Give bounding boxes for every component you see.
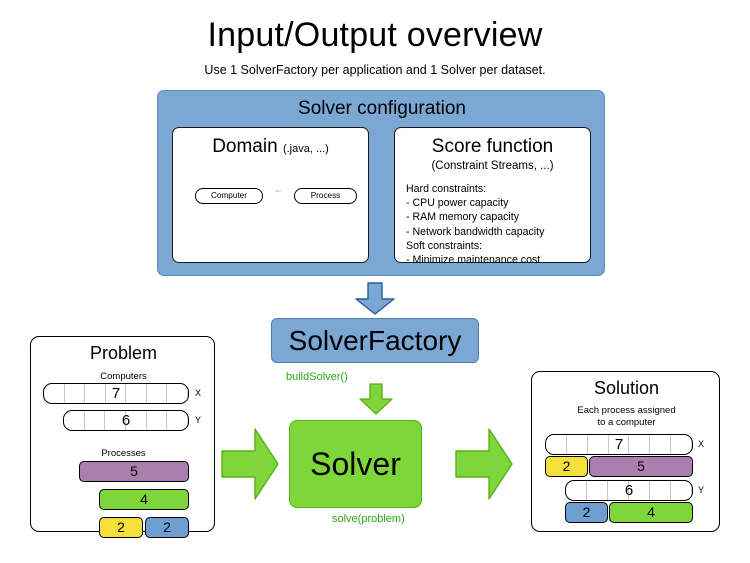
problem-title: Problem bbox=[31, 343, 216, 364]
domain-class-process[interactable]: Process bbox=[294, 188, 357, 204]
solution-assigned-process[interactable]: 2 bbox=[565, 502, 608, 523]
solution-computer-x-capacity: 7 bbox=[546, 435, 692, 455]
problem-computer-y-bar[interactable]: 6 bbox=[63, 410, 189, 431]
solution-computer-y-capacity: 6 bbox=[566, 481, 692, 501]
domain-card: Domain (.java, ...) Computer Process bbox=[172, 127, 369, 263]
solution-computer-x-axis-label: X bbox=[698, 434, 704, 455]
problem-computer-x-axis-label: X bbox=[195, 383, 201, 404]
problem-process-block[interactable]: 4 bbox=[99, 489, 189, 510]
solve-problem-label: solve(problem) bbox=[332, 513, 405, 525]
build-solver-label: buildSolver() bbox=[286, 371, 348, 383]
solution-process-size: 5 bbox=[637, 458, 645, 474]
domain-class-computer-label: Computer bbox=[211, 191, 247, 200]
solver-configuration-title: Solver configuration bbox=[158, 98, 606, 120]
score-function-subtitle: (Constraint Streams, ...) bbox=[395, 160, 590, 172]
solution-title: Solution bbox=[532, 378, 721, 399]
domain-title: Domain (.java, ...) bbox=[173, 137, 368, 156]
domain-class-computer[interactable]: Computer bbox=[195, 188, 263, 204]
process-to-computer-arrow-icon bbox=[262, 190, 295, 192]
solution-panel: Solution Each process assigned to a comp… bbox=[531, 371, 720, 532]
solution-process-size: 2 bbox=[563, 458, 571, 474]
solver-box[interactable]: Solver bbox=[289, 420, 422, 508]
problem-process-size: 2 bbox=[117, 519, 125, 535]
solution-process-size: 4 bbox=[647, 504, 655, 520]
constraints-list: Hard constraints: - CPU power capacity -… bbox=[406, 182, 586, 267]
problem-process-size: 4 bbox=[140, 491, 148, 507]
problem-computer-y-capacity: 6 bbox=[64, 411, 188, 431]
solution-assigned-process[interactable]: 5 bbox=[589, 456, 693, 477]
problem-computers-label: Computers bbox=[31, 371, 216, 382]
solution-process-size: 2 bbox=[583, 504, 591, 520]
domain-class-process-label: Process bbox=[311, 191, 341, 200]
page-subtitle: Use 1 SolverFactory per application and … bbox=[0, 63, 750, 77]
problem-processes-label: Processes bbox=[31, 448, 216, 459]
score-function-card: Score function (Constraint Streams, ...)… bbox=[394, 127, 591, 263]
solver-configuration-panel: Solver configuration Domain (.java, ...)… bbox=[157, 90, 605, 276]
problem-process-block[interactable]: 2 bbox=[145, 517, 189, 538]
domain-title-suffix: (.java, ...) bbox=[283, 143, 329, 155]
solution-computer-x-bar[interactable]: 7 bbox=[545, 434, 693, 455]
problem-computer-y-axis-label: Y bbox=[195, 410, 201, 431]
config-to-factory-arrow-icon bbox=[355, 282, 395, 315]
domain-title-main: Domain bbox=[212, 136, 277, 157]
solver-factory-box[interactable]: SolverFactory bbox=[271, 318, 479, 363]
factory-to-solver-arrow-icon bbox=[359, 383, 393, 415]
problem-computer-x-capacity: 7 bbox=[44, 384, 188, 404]
solver-to-solution-arrow-icon bbox=[455, 427, 513, 501]
solution-subtitle: Each process assigned to a computer bbox=[532, 405, 721, 429]
problem-process-size: 5 bbox=[130, 463, 138, 479]
solution-computer-y-bar[interactable]: 6 bbox=[565, 480, 693, 501]
problem-process-block[interactable]: 5 bbox=[79, 461, 189, 482]
problem-to-solver-arrow-icon bbox=[221, 427, 279, 501]
problem-computer-x-bar[interactable]: 7 bbox=[43, 383, 189, 404]
solver-factory-label: SolverFactory bbox=[289, 325, 462, 356]
problem-process-size: 2 bbox=[163, 519, 171, 535]
solution-computer-y-axis-label: Y bbox=[698, 480, 704, 501]
score-function-title: Score function bbox=[395, 137, 590, 156]
page-title: Input/Output overview bbox=[0, 16, 750, 55]
solution-assigned-process[interactable]: 4 bbox=[609, 502, 693, 523]
problem-panel: Problem Computers 7 X 6 Y Processes 5 4 … bbox=[30, 336, 215, 532]
solution-assigned-process[interactable]: 2 bbox=[545, 456, 588, 477]
solver-label: Solver bbox=[310, 446, 401, 482]
problem-process-block[interactable]: 2 bbox=[99, 517, 143, 538]
